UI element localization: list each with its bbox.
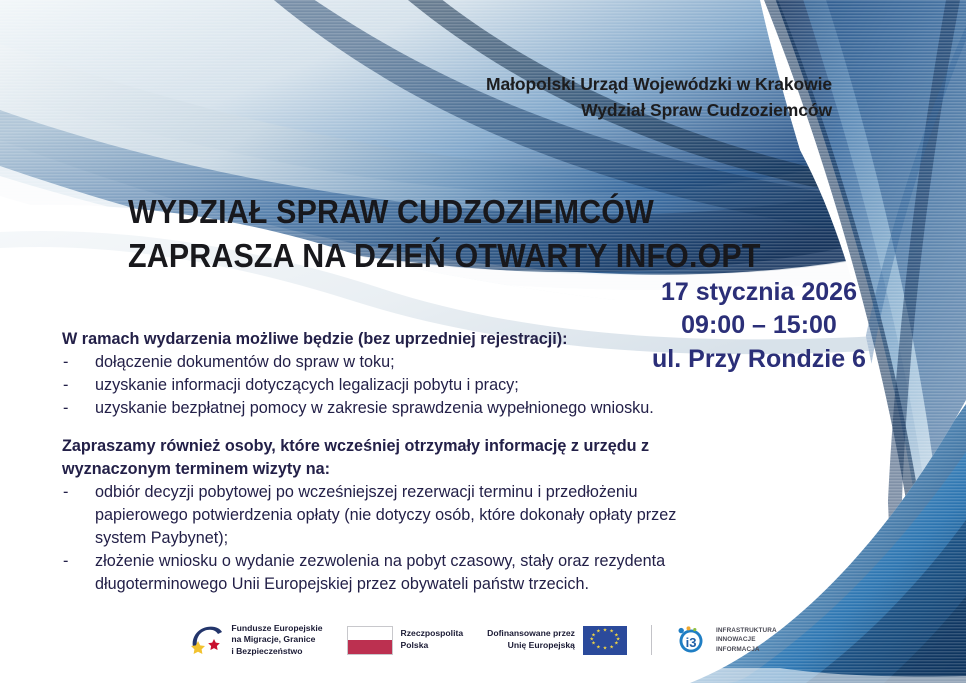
bullet-dash-icon: - [63,397,68,420]
eu-star-icon: ★ [609,645,613,650]
list-item: - odbiór decyzji pobytowej po wcześniejs… [62,481,730,550]
eu-star-icon: ★ [609,630,613,635]
eu-star-icon: ★ [603,629,607,634]
fundusze-europejskie-icon [189,625,223,655]
list-item-text: złożenie wniosku o wydanie zezwolenia na… [95,552,665,593]
eu-star-icon: ★ [596,645,600,650]
list-item-text: dołączenie dokumentów do spraw w toku; [95,353,395,371]
eu-star-icon: ★ [591,633,595,638]
i3-line2: INNOWACJE [716,635,777,644]
i3-line3: INFORMACJA [716,645,777,654]
logo-fundusze-europejskie: Fundusze Europejskie na Migracje, Granic… [189,623,322,658]
bullet-dash-icon: - [63,351,68,374]
eu-star-icon: ★ [590,638,594,643]
eu-funding-caption: Dofinansowane przez Unię Europejską [487,628,575,651]
i3-line1: INFRASTRUKTURA [716,626,777,635]
poster-canvas: Małopolski Urząd Wojewódzki w Krakowie W… [0,0,966,683]
agency-header: Małopolski Urząd Wojewódzki w Krakowie W… [486,72,832,123]
eu-star-icon: ★ [603,646,607,651]
poland-flag-icon [347,626,393,655]
agency-header-line1: Małopolski Urząd Wojewódzki w Krakowie [486,72,832,98]
logo-rzeczpospolita-polska: Rzeczpospolita Polska [347,626,464,655]
footer-logo-strip: Fundusze Europejskie na Migracje, Granic… [0,612,966,668]
list-item: - dołączenie dokumentów do spraw w toku; [62,351,730,374]
page-title: WYDZIAŁ SPRAW CUDZOZIEMCÓW ZAPRASZA NA D… [128,190,761,278]
svg-text:i3: i3 [686,635,697,650]
list-item: - złożenie wniosku o wydanie zezwolenia … [62,550,730,596]
fundusze-line3: i Bezpieczeństwo [231,646,322,658]
eu-flag-icon: ★★★★★★★★★★★★ [583,626,627,655]
agency-header-line2: Wydział Spraw Cudzoziemców [486,98,832,124]
eu-star-icon: ★ [614,642,618,647]
eu-star-icon: ★ [591,642,595,647]
logo-european-union: Dofinansowane przez Unię Europejską ★★★★… [487,626,627,655]
rzeczpospolita-line2: Polska [401,640,464,652]
fundusze-europejskie-caption: Fundusze Europejskie na Migracje, Granic… [231,623,322,658]
body-content: W ramach wydarzenia możliwe będzie (bez … [62,328,730,596]
bullet-dash-icon: - [63,481,68,504]
flag-stripe-red [348,640,392,654]
fundusze-line2: na Migracje, Granice [231,634,322,646]
rzeczpospolita-caption: Rzeczpospolita Polska [401,628,464,651]
logo-i3: i3 INFRASTRUKTURA INNOWACJE INFORMACJA [676,625,777,655]
page-title-line1: WYDZIAŁ SPRAW CUDZOZIEMCÓW [128,190,761,234]
flag-stripe-white [348,627,392,641]
footer-divider [651,625,652,655]
section1-lead: W ramach wydarzenia możliwe będzie (bez … [62,328,730,351]
page-title-line2: ZAPRASZA NA DZIEŃ OTWARTY INFO.OPT [128,234,761,278]
bullet-dash-icon: - [63,374,68,397]
section1-list: - dołączenie dokumentów do spraw w toku;… [62,351,730,420]
i3-mark-icon: i3 [676,625,708,655]
eu-funding-line1: Dofinansowane przez [487,628,575,640]
list-item: - uzyskanie informacji dotyczących legal… [62,374,730,397]
list-item-text: uzyskanie informacji dotyczących legaliz… [95,376,519,394]
fundusze-line1: Fundusze Europejskie [231,623,322,635]
eu-funding-line2: Unię Europejską [487,640,575,652]
section2-list: - odbiór decyzji pobytowej po wcześniejs… [62,481,730,596]
rzeczpospolita-line1: Rzeczpospolita [401,628,464,640]
list-item: - uzyskanie bezpłatnej pomocy w zakresie… [62,397,730,420]
list-item-text: odbiór decyzji pobytowej po wcześniejsze… [95,483,676,547]
event-date: 17 stycznia 2026 [634,276,884,309]
i3-caption: INFRASTRUKTURA INNOWACJE INFORMACJA [716,626,777,654]
list-item-text: uzyskanie bezpłatnej pomocy w zakresie s… [95,399,654,417]
bullet-dash-icon: - [63,550,68,573]
section2-lead: Zapraszamy również osoby, które wcześnie… [62,435,730,481]
eu-star-icon: ★ [596,630,600,635]
